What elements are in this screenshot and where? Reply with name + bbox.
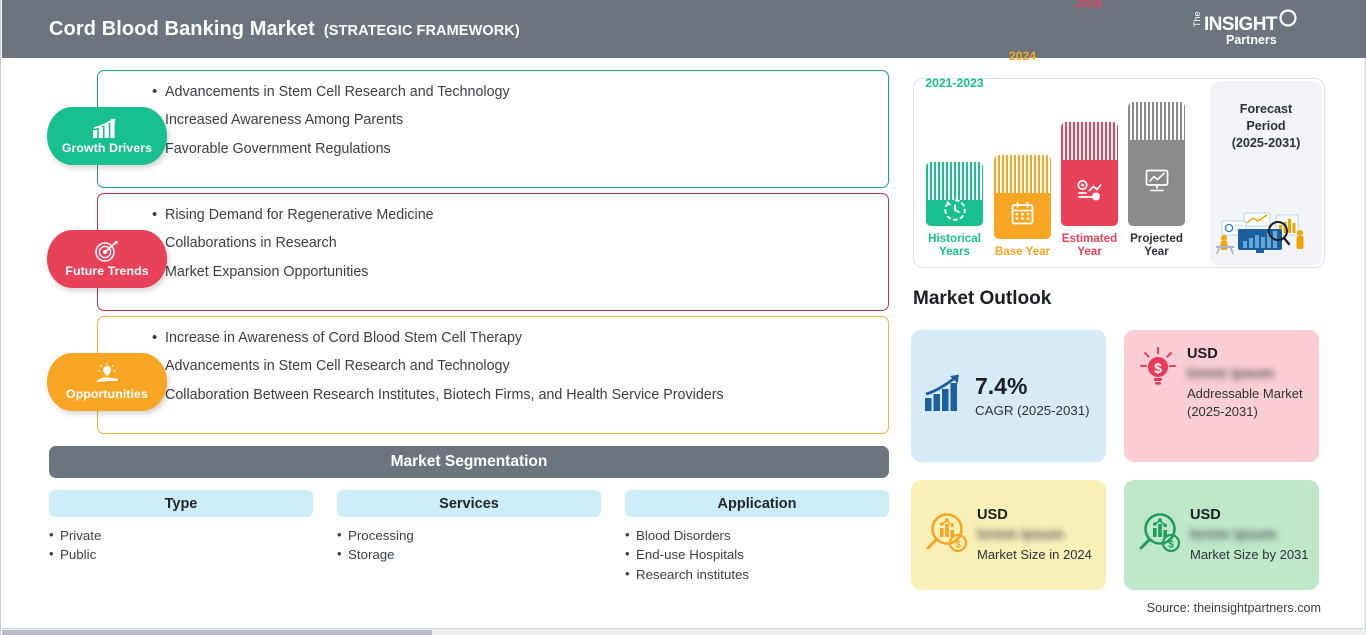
forecast-period-panel: Forecast Period (2025-2031) [1210, 81, 1322, 266]
bar-column [1128, 102, 1185, 226]
bar-body [1128, 140, 1185, 226]
card-addressable-inner: $ USD lorem ipsum Addressable Market (20… [1124, 330, 1319, 462]
horizontal-scrollbar[interactable] [2, 628, 1366, 635]
list-item: End-use Hospitals [625, 548, 889, 561]
list-item: Favorable Government Regulations [152, 142, 888, 156]
right-column: 2021-2023 [906, 58, 1366, 635]
source-attribution: Source: theinsightpartners.com [1147, 601, 1321, 615]
list-item: Blood Disorders [625, 529, 889, 542]
badge-label: Future Trends [65, 264, 148, 278]
market-segmentation-title: Market Segmentation [391, 453, 548, 471]
segment-title: Type [165, 496, 198, 512]
list-item: Storage [337, 548, 601, 561]
list-item: Collaboration Between Research Institute… [152, 388, 888, 402]
forecast-line-3: (2025-2031) [1232, 135, 1301, 152]
calendar-icon [1010, 201, 1035, 231]
bar-column [994, 155, 1051, 239]
list-item: Public [49, 548, 313, 561]
growth-drivers-bullets: Advancements in Stem Cell Research and T… [98, 71, 888, 170]
badge-label: Growth Drivers [62, 141, 152, 155]
card-caption: Market Size in 2024 [977, 546, 1092, 564]
timeline-bars: 2021-2023 [926, 79, 1206, 269]
business-analytics-illustration [1214, 201, 1318, 260]
card-cagr-inner: 7.4% CAGR (2025-2031) [911, 330, 1106, 462]
bar-column [1061, 122, 1118, 226]
currency-unit: USD [1187, 346, 1311, 362]
cagr-value: 7.4% [975, 374, 1090, 398]
card-2024-text-group: USD lorem ipsum Market Size in 2024 [977, 507, 1092, 564]
left-column: Advancements in Stem Cell Research and T… [1, 58, 901, 618]
svg-text:$: $ [955, 539, 961, 550]
bar-caption: Estimated Year [1061, 232, 1118, 259]
bar-stripe-top [1061, 122, 1118, 160]
segmentation-column-application: Application Blood Disorders End-use Hosp… [625, 490, 889, 587]
card-2024-inner: $ USD lorem ipsum Market Size in 2024 [911, 480, 1106, 590]
projection-screen-icon [1144, 168, 1170, 197]
list-item: Advancements in Stem Cell Research and T… [152, 85, 888, 99]
segmentation-column-type: Type Private Public [49, 490, 313, 568]
list-item: Market Expansion Opportunities [152, 265, 888, 279]
bar-year-label: 2024 [1009, 49, 1036, 63]
bar-year-label: 2021-2023 [925, 76, 983, 90]
card-2031-inner: $ USD lorem ipsum Market Size by 2031 [1124, 480, 1319, 590]
market-segmentation-header: Market Segmentation [49, 446, 889, 478]
list-item: Increased Awareness Among Parents [152, 113, 888, 127]
bar-body [994, 193, 1051, 239]
card-market-size-2031[interactable]: $ USD lorem ipsum Market Size by 2031 [1124, 480, 1319, 590]
card-2031-text-group: USD lorem ipsum Market Size by 2031 [1190, 507, 1309, 564]
bar-chart-arrow-up-icon [923, 374, 967, 419]
clock-history-icon [942, 197, 968, 226]
cagr-text-group: 7.4% CAGR (2025-2031) [975, 374, 1090, 418]
logo-the-text: The [1192, 11, 1202, 27]
page-subtitle: (STRATEGIC FRAMEWORK) [324, 23, 520, 39]
segment-list-application: Blood Disorders End-use Hospitals Resear… [625, 529, 889, 581]
segment-list-services: Processing Storage [337, 529, 601, 562]
list-item: Private [49, 529, 313, 542]
lightbulb-dollar-icon: $ [1138, 346, 1178, 397]
timeline-bar-historical: 2021-2023 [926, 162, 983, 259]
bar-caption: Projected Year [1128, 232, 1185, 259]
segment-title: Application [718, 496, 797, 512]
market-timeline-chart: 2021-2023 [913, 78, 1325, 268]
infographic-page: Cord Blood Banking Market (STRATEGIC FRA… [0, 0, 1366, 635]
blurred-value: lorem ipsum [1190, 527, 1309, 543]
card-market-size-2024[interactable]: $ USD lorem ipsum Market Size in 2024 [911, 480, 1106, 590]
header-title-group: Cord Blood Banking Market (STRATEGIC FRA… [2, 18, 520, 41]
card-addressable-market[interactable]: $ USD lorem ipsum Addressable Market (20… [1124, 330, 1319, 462]
timeline-bar-estimated: 2025 [1061, 122, 1118, 259]
list-item: Collaborations in Research [152, 236, 888, 250]
future-trends-bullets: Rising Demand for Regenerative Medicine … [98, 194, 888, 293]
opportunities-bullets: Increase in Awareness of Cord Blood Stem… [98, 317, 888, 416]
magnifier-bar-chart-dollar-icon: $ [1136, 510, 1182, 561]
card-caption: Addressable Market (2025-2031) [1187, 385, 1311, 420]
market-outlook-title: Market Outlook [913, 288, 1051, 310]
timeline-bar-base: 2024 [994, 155, 1051, 259]
segment-chip-services[interactable]: Services [337, 490, 601, 517]
bar-caption: Base Year [994, 245, 1051, 259]
insight-partners-logo: The INSIGHT Partners [1188, 8, 1308, 50]
svg-text:$: $ [1168, 539, 1174, 550]
target-dart-icon [93, 240, 121, 262]
badge-opportunities[interactable]: Opportunities [47, 353, 167, 411]
bar-stripe-top [926, 162, 983, 200]
list-item: Increase in Awareness of Cord Blood Stem… [152, 331, 888, 345]
logo-partners-text: Partners [1226, 33, 1277, 47]
segment-chip-type[interactable]: Type [49, 490, 313, 517]
bar-body [1061, 160, 1118, 226]
growth-drivers-box: Advancements in Stem Cell Research and T… [97, 70, 889, 188]
list-item: Rising Demand for Regenerative Medicine [152, 208, 888, 222]
currency-unit: USD [1190, 507, 1309, 523]
page-title: Cord Blood Banking Market [49, 18, 315, 41]
addressable-text-group: USD lorem ipsum Addressable Market (2025… [1187, 346, 1311, 420]
magnifier-bar-chart-dollar-icon: $ [923, 510, 969, 561]
forecast-line-1: Forecast [1232, 101, 1301, 118]
bar-column [926, 162, 983, 226]
cagr-caption: CAGR (2025-2031) [975, 403, 1090, 418]
svg-text:$: $ [1154, 360, 1162, 376]
bar-caption: Historical Years [926, 232, 983, 259]
bar-year-label: 2025 [1076, 0, 1103, 10]
badge-label: Opportunities [66, 387, 148, 401]
currency-unit: USD [977, 507, 1092, 523]
badge-future-trends[interactable]: Future Trends [47, 230, 167, 288]
list-item: Processing [337, 529, 601, 542]
bar-stripe-top [1128, 102, 1185, 140]
segment-title: Services [439, 496, 499, 512]
timeline-bar-projected: 2031 [1128, 102, 1185, 259]
bar-body [926, 200, 983, 226]
segment-chip-application[interactable]: Application [625, 490, 889, 517]
bar-stripe-top [994, 155, 1051, 193]
forecast-settings-icon [1076, 178, 1103, 207]
hand-lightbulb-icon [92, 363, 122, 385]
logo-circle-accent [1281, 11, 1296, 26]
opportunities-box: Increase in Awareness of Cord Blood Stem… [97, 316, 889, 434]
forecast-line-2: Period [1232, 118, 1301, 135]
segmentation-column-services: Services Processing Storage [337, 490, 601, 568]
page-header: Cord Blood Banking Market (STRATEGIC FRA… [2, 0, 1366, 58]
bar-chart-growth-icon [92, 117, 122, 139]
forecast-title: Forecast Period (2025-2031) [1232, 101, 1301, 152]
scrollbar-thumb[interactable] [2, 630, 432, 635]
blurred-value: lorem ipsum [1187, 366, 1311, 382]
card-cagr[interactable]: 7.4% CAGR (2025-2031) [911, 330, 1106, 462]
segment-list-type: Private Public [49, 529, 313, 562]
card-caption: Market Size by 2031 [1190, 546, 1309, 564]
logo-insight-text: INSIGHT [1204, 14, 1278, 35]
blurred-value: lorem ipsum [977, 527, 1092, 543]
list-item: Advancements in Stem Cell Research and T… [152, 359, 888, 373]
future-trends-box: Rising Demand for Regenerative Medicine … [97, 193, 889, 311]
list-item: Research institutes [625, 568, 889, 581]
badge-growth-drivers[interactable]: Growth Drivers [47, 107, 167, 165]
